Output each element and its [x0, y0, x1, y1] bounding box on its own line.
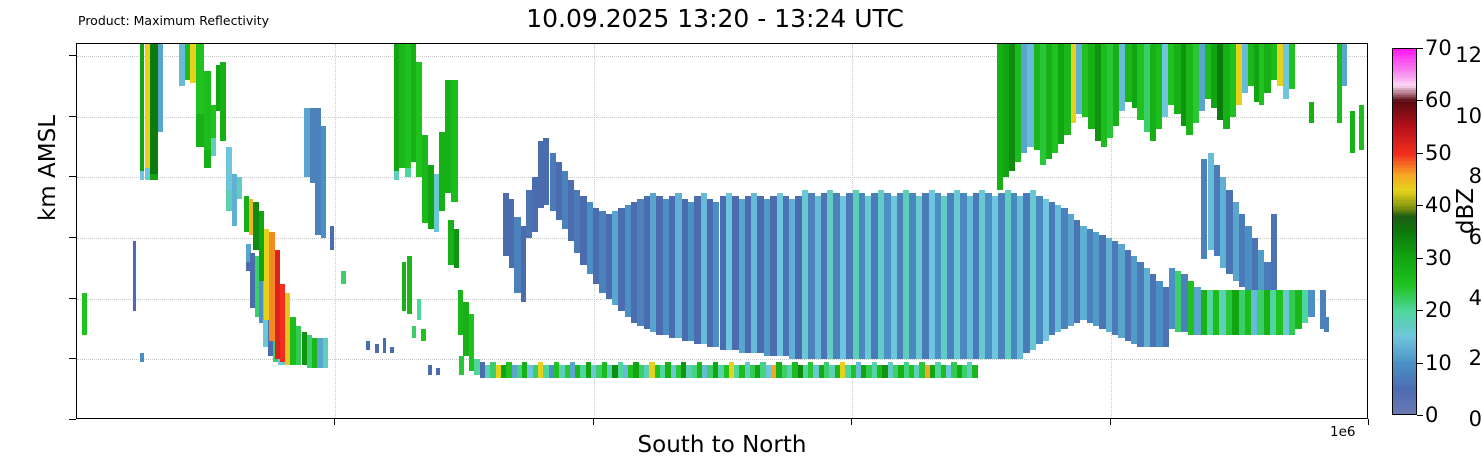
plot-frame — [76, 43, 1368, 419]
reflectivity-column — [133, 44, 137, 418]
reflectivity-cell — [562, 171, 568, 229]
x-axis-label: South to North — [76, 432, 1368, 458]
reflectivity-column — [296, 44, 301, 418]
reflectivity-cell — [296, 326, 301, 365]
reflectivity-column — [237, 44, 242, 418]
y-tick-mark — [69, 116, 76, 117]
reflectivity-cell — [1271, 214, 1276, 290]
reflectivity-cell — [204, 150, 211, 168]
reflectivity-column — [1359, 44, 1364, 418]
reflectivity-cell — [1342, 44, 1347, 86]
reflectivity-column — [196, 44, 204, 418]
reflectivity-column — [459, 44, 464, 418]
x-tick-mark — [1368, 419, 1369, 425]
colorbar-tick-label: 60 — [1425, 88, 1452, 112]
reflectivity-column — [532, 44, 538, 418]
reflectivity-column — [383, 44, 387, 418]
colorbar-tick-label: 50 — [1425, 141, 1452, 165]
reflectivity-column — [158, 44, 163, 418]
y-tick-mark — [69, 298, 76, 299]
reflectivity-column — [140, 44, 144, 418]
colorbar-tick-label: 0 — [1425, 403, 1438, 427]
reflectivity-column — [1342, 44, 1347, 418]
reflectivity-cell — [150, 44, 158, 174]
colorbar-tick-mark — [1417, 258, 1423, 259]
reflectivity-cell — [82, 293, 87, 335]
reflectivity-column — [341, 44, 346, 418]
reflectivity-cell — [140, 171, 144, 180]
reflectivity-column — [1324, 44, 1329, 418]
x-tick-mark — [1110, 419, 1111, 425]
reflectivity-cell — [204, 71, 211, 150]
reflectivity-column — [1289, 44, 1295, 418]
reflectivity-column — [562, 44, 568, 418]
y-tick-mark — [69, 237, 76, 238]
reflectivity-cell — [1324, 317, 1329, 332]
reflectivity-cell — [341, 271, 346, 283]
colorbar-tick-mark — [1417, 153, 1423, 154]
reflectivity-column — [1302, 44, 1308, 418]
colorbar-segment — [1393, 414, 1416, 415]
reflectivity-cell — [237, 177, 242, 198]
reflectivity-cell — [550, 153, 556, 211]
reflectivity-column — [366, 44, 371, 418]
reflectivity-cell — [150, 174, 158, 180]
reflectivity-column — [1264, 44, 1270, 418]
x-axis-offset-text: 1e6 — [1330, 424, 1355, 440]
colorbar-label: dBZ — [1453, 151, 1479, 271]
reflectivity-cell — [1350, 111, 1355, 153]
reflectivity-cell — [439, 132, 445, 211]
reflectivity-cell — [321, 126, 326, 238]
plot-data-area — [77, 44, 1367, 418]
reflectivity-column — [1271, 44, 1276, 418]
reflectivity-cell — [543, 138, 549, 205]
reflectivity-cell — [140, 44, 144, 171]
colorbar-tick-mark — [1417, 100, 1423, 101]
reflectivity-cell — [459, 356, 464, 374]
radar-cross-section-figure: Product: Maximum Reflectivity 10.09.2025… — [0, 0, 1482, 470]
reflectivity-column — [82, 44, 87, 418]
y-tick-mark — [69, 176, 76, 177]
y-axis-label: km AMSL — [35, 88, 61, 248]
colorbar-tick-mark — [1417, 48, 1423, 49]
colorbar-tick-label: 70 — [1425, 36, 1452, 60]
reflectivity-column — [543, 44, 549, 418]
reflectivity-cell — [1264, 262, 1270, 289]
reflectivity-column — [439, 44, 445, 418]
reflectivity-cell — [1302, 290, 1308, 323]
reflectivity-cell — [244, 196, 249, 232]
reflectivity-column — [1350, 44, 1355, 418]
colorbar-tick-mark — [1417, 415, 1423, 416]
reflectivity-column — [330, 44, 334, 418]
x-tick-mark — [851, 419, 852, 425]
y-tick-mark — [69, 358, 76, 359]
colorbar — [1392, 48, 1417, 415]
reflectivity-cell — [196, 114, 204, 147]
reflectivity-cell — [1309, 102, 1314, 123]
colorbar-tick-label: 30 — [1425, 246, 1452, 270]
x-tick-mark — [593, 419, 594, 425]
reflectivity-column — [244, 44, 249, 418]
reflectivity-cell — [383, 338, 387, 353]
x-tick-mark — [334, 419, 335, 425]
reflectivity-column — [321, 44, 326, 418]
reflectivity-cell — [375, 344, 379, 353]
reflectivity-column — [550, 44, 556, 418]
reflectivity-column — [1309, 44, 1314, 418]
reflectivity-column — [204, 44, 211, 418]
reflectivity-column — [150, 44, 158, 418]
gridline-vertical — [335, 44, 336, 418]
colorbar-tick-mark — [1417, 363, 1423, 364]
reflectivity-cell — [330, 226, 334, 250]
reflectivity-cell — [158, 44, 163, 132]
reflectivity-cell — [133, 241, 137, 311]
colorbar-tick-mark — [1417, 205, 1423, 206]
reflectivity-cell — [532, 177, 538, 232]
reflectivity-cell — [1359, 105, 1364, 150]
colorbar-tick-mark — [1417, 310, 1423, 311]
y-tick-mark — [69, 55, 76, 56]
colorbar-tick-label: 10 — [1425, 351, 1452, 375]
reflectivity-cell — [1289, 44, 1295, 89]
colorbar-tick-label: 40 — [1425, 193, 1452, 217]
reflectivity-cell — [366, 341, 371, 350]
colorbar-tick-label: 20 — [1425, 298, 1452, 322]
y-tick-mark — [69, 419, 76, 420]
reflectivity-column — [375, 44, 379, 418]
reflectivity-cell — [196, 44, 204, 114]
page-title: 10.09.2025 13:20 - 13:24 UTC — [0, 4, 1430, 33]
